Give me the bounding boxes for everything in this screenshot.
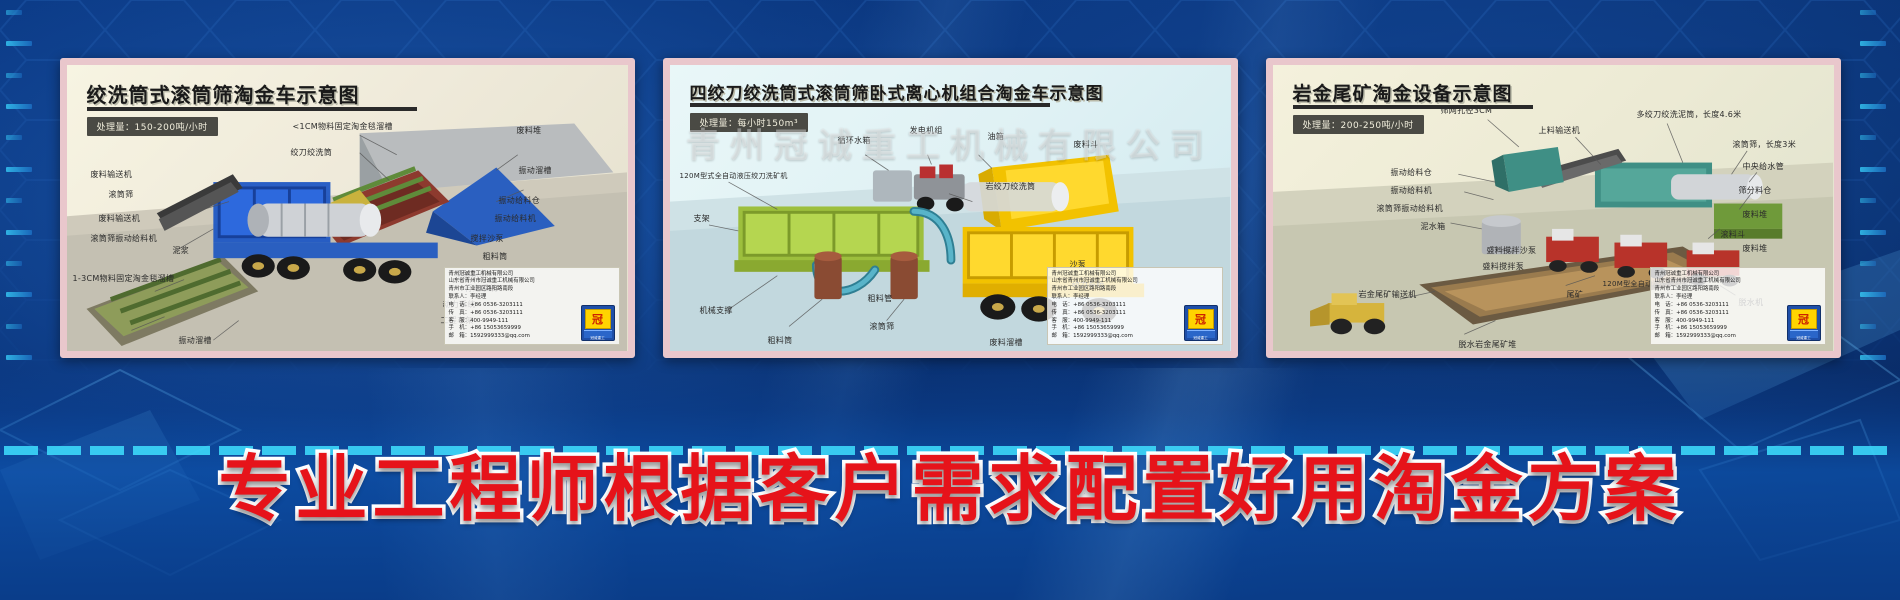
contact-line-2: 传 真：+86 0536-3203111 [1655, 310, 1784, 318]
panel-1-title-rule [87, 107, 417, 111]
contact-line-0: 联系人：李经理 [1052, 294, 1181, 302]
contact-line-0: 联系人：李经理 [449, 294, 578, 302]
contact-line-5: 邮 箱：1592999333@qq.com [1052, 333, 1181, 341]
panel-3-label-9: 废料堆 [1743, 211, 1768, 220]
panel-3-title-rule [1293, 105, 1533, 109]
contact-line-1: 电 话：+86 0536-3203111 [1655, 302, 1784, 310]
contact-line-2: 传 真：+86 0536-3203111 [449, 310, 578, 318]
contact-line-4: 手 机：+86 15053659999 [1052, 325, 1181, 333]
panel-2-label-0: 循环水箱 [838, 137, 871, 146]
panel-2-label-9: 滚筒筛 [870, 323, 895, 332]
panel-1-label-2: 振动溜槽 [519, 167, 552, 176]
panel-1-contact-text: 青州冠诚重工机械有限公司 山东省青州市冠诚重工机械有限公司 青州市工业园区路阳路… [449, 271, 578, 341]
logo-mark-text: 冠 [585, 309, 611, 329]
panel-3-contact-text: 青州冠诚重工机械有限公司 山东省青州市冠诚重工机械有限公司 青州市工业园区路阳路… [1655, 271, 1784, 341]
panel-3-label-1: 多绞刀绞洗泥筒，长度4.6米 [1637, 111, 1742, 120]
panel-2-label-7: 机械支撑 [700, 307, 733, 316]
panel-3-label-17: 岩金尾矿输送机 [1359, 291, 1417, 300]
panel-3-label-19: 脱水岩金尾矿堆 [1459, 341, 1517, 350]
panel-1-label-7: 振动给料机 [495, 215, 537, 224]
panel-3-label-11: 废料堆 [1743, 245, 1768, 254]
contact-address: 青州市工业园区路阳路南段 [1655, 286, 1784, 294]
panel-1-label-11: 滚筒筛振动给料机 [91, 235, 157, 244]
panel-2-label-8: 粗料筒 [768, 337, 793, 346]
panel-2-label-5: 岩绞刀绞洗筒 [986, 183, 1036, 192]
panel-1-title: 绞洗筒式滚筒筛淘金车示意图 [87, 79, 360, 108]
company-logo-icon: 冠 冠诚重工 [1787, 305, 1821, 341]
promo-banner: 绞洗筒式滚筒筛淘金车示意图 处理量：150-200吨/小时 <1CM物料固定淘金… [0, 0, 1900, 600]
panel-3-contact-card[interactable]: 青州冠诚重工机械有限公司 山东省青州市冠诚重工机械有限公司 青州市工业园区路阳路… [1650, 267, 1826, 345]
headline-strip: 专业工程师根据客户需求配置好用淘金方案 [0, 368, 1900, 600]
contact-address: 青州市工业园区路阳路南段 [1052, 286, 1181, 294]
panel-1-subtitle: 处理量：150-200吨/小时 [87, 117, 218, 136]
logo-caption: 冠诚重工 [582, 336, 614, 341]
panel-3-label-2: 上料输送机 [1539, 127, 1581, 136]
panel-1-label-3: 废料输送机 [91, 171, 133, 180]
panel-1-label-18: 振动溜槽 [179, 337, 212, 346]
panel-2-label-2: 油箱 [988, 133, 1005, 142]
logo-mark-text: 冠 [1188, 309, 1214, 329]
panel-3-label-10: 滚料斗 [1721, 231, 1746, 240]
company-logo-icon: 冠 冠诚重工 [1184, 305, 1218, 341]
panel-3-label-13: 盛料搅拌沙泵 [1487, 247, 1537, 256]
panel-2-label-3: 废料斗 [1074, 141, 1099, 150]
panel-1-label-10: 废料输送机 [99, 215, 141, 224]
panel-3-label-14: 盛料搅拌泵 [1483, 263, 1525, 272]
panel-1-label-17: 1-3CM物料固定淘金毯溜槽 [73, 275, 175, 284]
panel-3-label-6: 振动给料仓 [1391, 169, 1433, 178]
contact-line-1: 电 话：+86 0536-3203111 [449, 302, 578, 310]
panel-2-label-12: 废料溜槽 [990, 339, 1023, 348]
diagram-panel-1[interactable]: 绞洗筒式滚筒筛淘金车示意图 处理量：150-200吨/小时 <1CM物料固定淘金… [60, 58, 635, 358]
panel-1-label-9: 粗料筒 [483, 253, 508, 262]
panel-2-title: 四绞刀绞洗筒式滚筒筛卧式离心机组合淘金车示意图 [690, 79, 1104, 104]
panel-3-label-0: 筛网孔径3CM [1441, 107, 1493, 116]
diagram-panel-3[interactable]: 岩金尾矿淘金设备示意图 处理量：200-250吨/小时 筛网孔径3CM 多绞刀绞… [1266, 58, 1841, 358]
contact-line-5: 邮 箱：1592999333@qq.com [1655, 333, 1784, 341]
panel-2-label-4: 120M型式全自动液压绞刀洗矿机 [680, 173, 788, 181]
panel-3-label-4: 中央给水管 [1743, 163, 1785, 172]
contact-line-4: 手 机：+86 15053659999 [1655, 325, 1784, 333]
panel-3-label-7: 振动给料机 [1391, 187, 1433, 196]
panel-2-label-1: 发电机组 [910, 127, 943, 136]
panel-2-title-rule [690, 103, 1050, 107]
contact-line-4: 手 机：+86 15053659999 [449, 325, 578, 333]
contact-line-2: 传 真：+86 0536-3203111 [1052, 310, 1181, 318]
panel-2-label-13: 粗料管 [868, 295, 893, 304]
panel-2-contact-text: 青州冠诚重工机械有限公司 山东省青州市冠诚重工机械有限公司 青州市工业园区路阳路… [1052, 271, 1181, 341]
panel-1-label-4: 绞刀绞洗筒 [291, 149, 333, 158]
panel-1-label-5: 滚筒筛 [109, 191, 134, 200]
panel-3-subtitle: 处理量：200-250吨/小时 [1293, 115, 1424, 134]
panel-3-label-3: 滚筒筛，长度3米 [1733, 141, 1797, 150]
logo-caption: 冠诚重工 [1185, 336, 1217, 341]
panel-3-label-16: 尾矿 [1567, 291, 1584, 300]
panel-1-label-8: 搅拌沙泵 [471, 235, 504, 244]
logo-caption: 冠诚重工 [1788, 336, 1820, 341]
panel-1-contact-card[interactable]: 青州冠诚重工机械有限公司 山东省青州市冠诚重工机械有限公司 青州市工业园区路阳路… [444, 267, 620, 345]
contact-line-1: 电 话：+86 0536-3203111 [1052, 302, 1181, 310]
panel-2-subtitle: 处理量：每小时150m³ [690, 113, 809, 132]
panel-1-label-1: 废料堆 [517, 127, 542, 136]
panel-3-label-5: 筛分料仓 [1739, 187, 1772, 196]
panel-3-label-12: 泥水箱 [1421, 223, 1446, 232]
headline-text: 专业工程师根据客户需求配置好用淘金方案 [0, 430, 1900, 535]
contact-address: 青州市工业园区路阳路南段 [449, 286, 578, 294]
panel-1-label-12: 泥浆 [173, 247, 190, 256]
contact-line-5: 邮 箱：1592999333@qq.com [449, 333, 578, 341]
panel-2-contact-card[interactable]: 青州冠诚重工机械有限公司 山东省青州市冠诚重工机械有限公司 青州市工业园区路阳路… [1047, 267, 1223, 345]
diagram-panel-2[interactable]: 四绞刀绞洗筒式滚筒筛卧式离心机组合淘金车示意图 处理量：每小时150m³ 循环水… [663, 58, 1238, 358]
panel-2-label-6: 支架 [694, 215, 711, 224]
panel-3-label-8: 滚筒筛振动给料机 [1377, 205, 1443, 214]
panel-1-label-6: 振动给料仓 [499, 197, 541, 206]
panel-1-label-0: <1CM物料固定淘金毯溜槽 [293, 123, 393, 132]
logo-mark-text: 冠 [1791, 309, 1817, 329]
contact-line-0: 联系人：李经理 [1655, 294, 1784, 302]
panel-3-title: 岩金尾矿淘金设备示意图 [1293, 79, 1513, 106]
diagram-panel-row: 绞洗筒式滚筒筛淘金车示意图 处理量：150-200吨/小时 <1CM物料固定淘金… [0, 58, 1900, 363]
company-logo-icon: 冠 冠诚重工 [581, 305, 615, 341]
